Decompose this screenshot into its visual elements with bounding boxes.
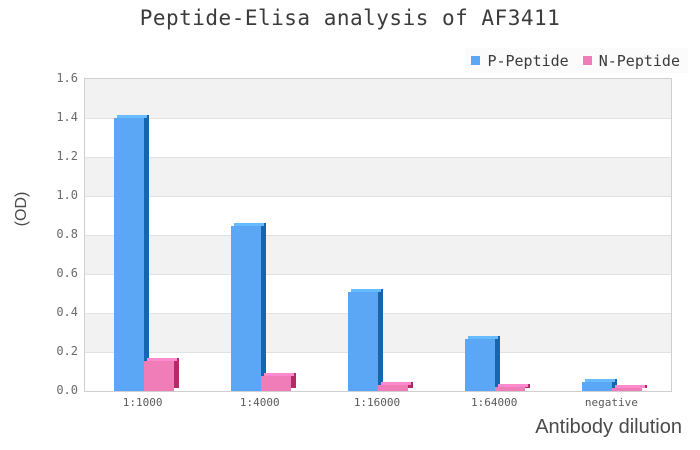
x-tick-label: 1:64000 (444, 396, 544, 409)
x-tick-label: 1:16000 (327, 396, 427, 409)
bar-top (264, 373, 294, 376)
legend-swatch-p-peptide (471, 56, 480, 65)
bar-face (144, 361, 174, 391)
bar-side (174, 358, 179, 388)
y-tick-label: 1.4 (34, 111, 78, 123)
y-tick-label: 0.6 (34, 267, 78, 279)
bar-top (147, 358, 177, 361)
bar-top (234, 223, 264, 226)
y-tick-label: 1.2 (34, 150, 78, 162)
bar[interactable] (144, 361, 174, 391)
legend-entry-n-peptide[interactable]: N-Peptide (583, 52, 680, 70)
bar[interactable] (495, 387, 525, 391)
bar-top (381, 382, 411, 385)
y-tick-label: 1.0 (34, 189, 78, 201)
bar-top (351, 289, 381, 292)
y-axis-ticks: 0.00.20.40.60.81.01.21.41.6 (30, 78, 78, 392)
bar-face (612, 388, 642, 392)
plot-area (84, 78, 672, 392)
bar-side (378, 289, 383, 388)
bar[interactable] (348, 292, 378, 391)
y-tick-label: 0.0 (34, 384, 78, 396)
bar[interactable] (582, 382, 612, 391)
bar[interactable] (465, 339, 495, 391)
bar-face (231, 226, 261, 391)
bar-face (348, 292, 378, 391)
bar-top (117, 115, 147, 118)
legend-label-p-peptide: P-Peptide (487, 52, 568, 70)
bar-top (468, 336, 498, 339)
bar-face (114, 118, 144, 391)
y-tick-label: 0.8 (34, 228, 78, 240)
bar-top (585, 379, 615, 382)
legend-label-n-peptide: N-Peptide (599, 52, 680, 70)
bar-face (378, 385, 408, 391)
bar-face (465, 339, 495, 391)
chart-legend: P-Peptide N-Peptide (465, 48, 688, 73)
x-tick-label: 1:1000 (93, 396, 193, 409)
bar-side (495, 336, 500, 388)
x-axis-title: Antibody dilution (535, 416, 682, 439)
legend-swatch-n-peptide (583, 56, 592, 65)
y-tick-label: 0.2 (34, 345, 78, 357)
y-tick-label: 1.6 (34, 72, 78, 84)
bar[interactable] (612, 388, 642, 392)
bar-top (498, 384, 528, 387)
legend-entry-p-peptide[interactable]: P-Peptide (471, 52, 568, 70)
x-tick-label: 1:4000 (210, 396, 310, 409)
bar[interactable] (231, 226, 261, 391)
y-axis-title: (OD) (13, 169, 31, 249)
bar-face (495, 387, 525, 391)
chart-title: Peptide-Elisa analysis of AF3411 (0, 6, 700, 30)
bar-face (261, 376, 291, 391)
x-tick-label: negative (561, 396, 661, 409)
bars-layer (85, 79, 671, 391)
bar[interactable] (114, 118, 144, 391)
x-axis-ticks: 1:10001:40001:160001:64000negative (84, 396, 672, 414)
bar-side (261, 223, 266, 388)
bar[interactable] (261, 376, 291, 391)
bar-face (582, 382, 612, 391)
bar-side (144, 115, 149, 388)
bar[interactable] (378, 385, 408, 391)
y-tick-label: 0.4 (34, 306, 78, 318)
bar-top (615, 385, 645, 388)
